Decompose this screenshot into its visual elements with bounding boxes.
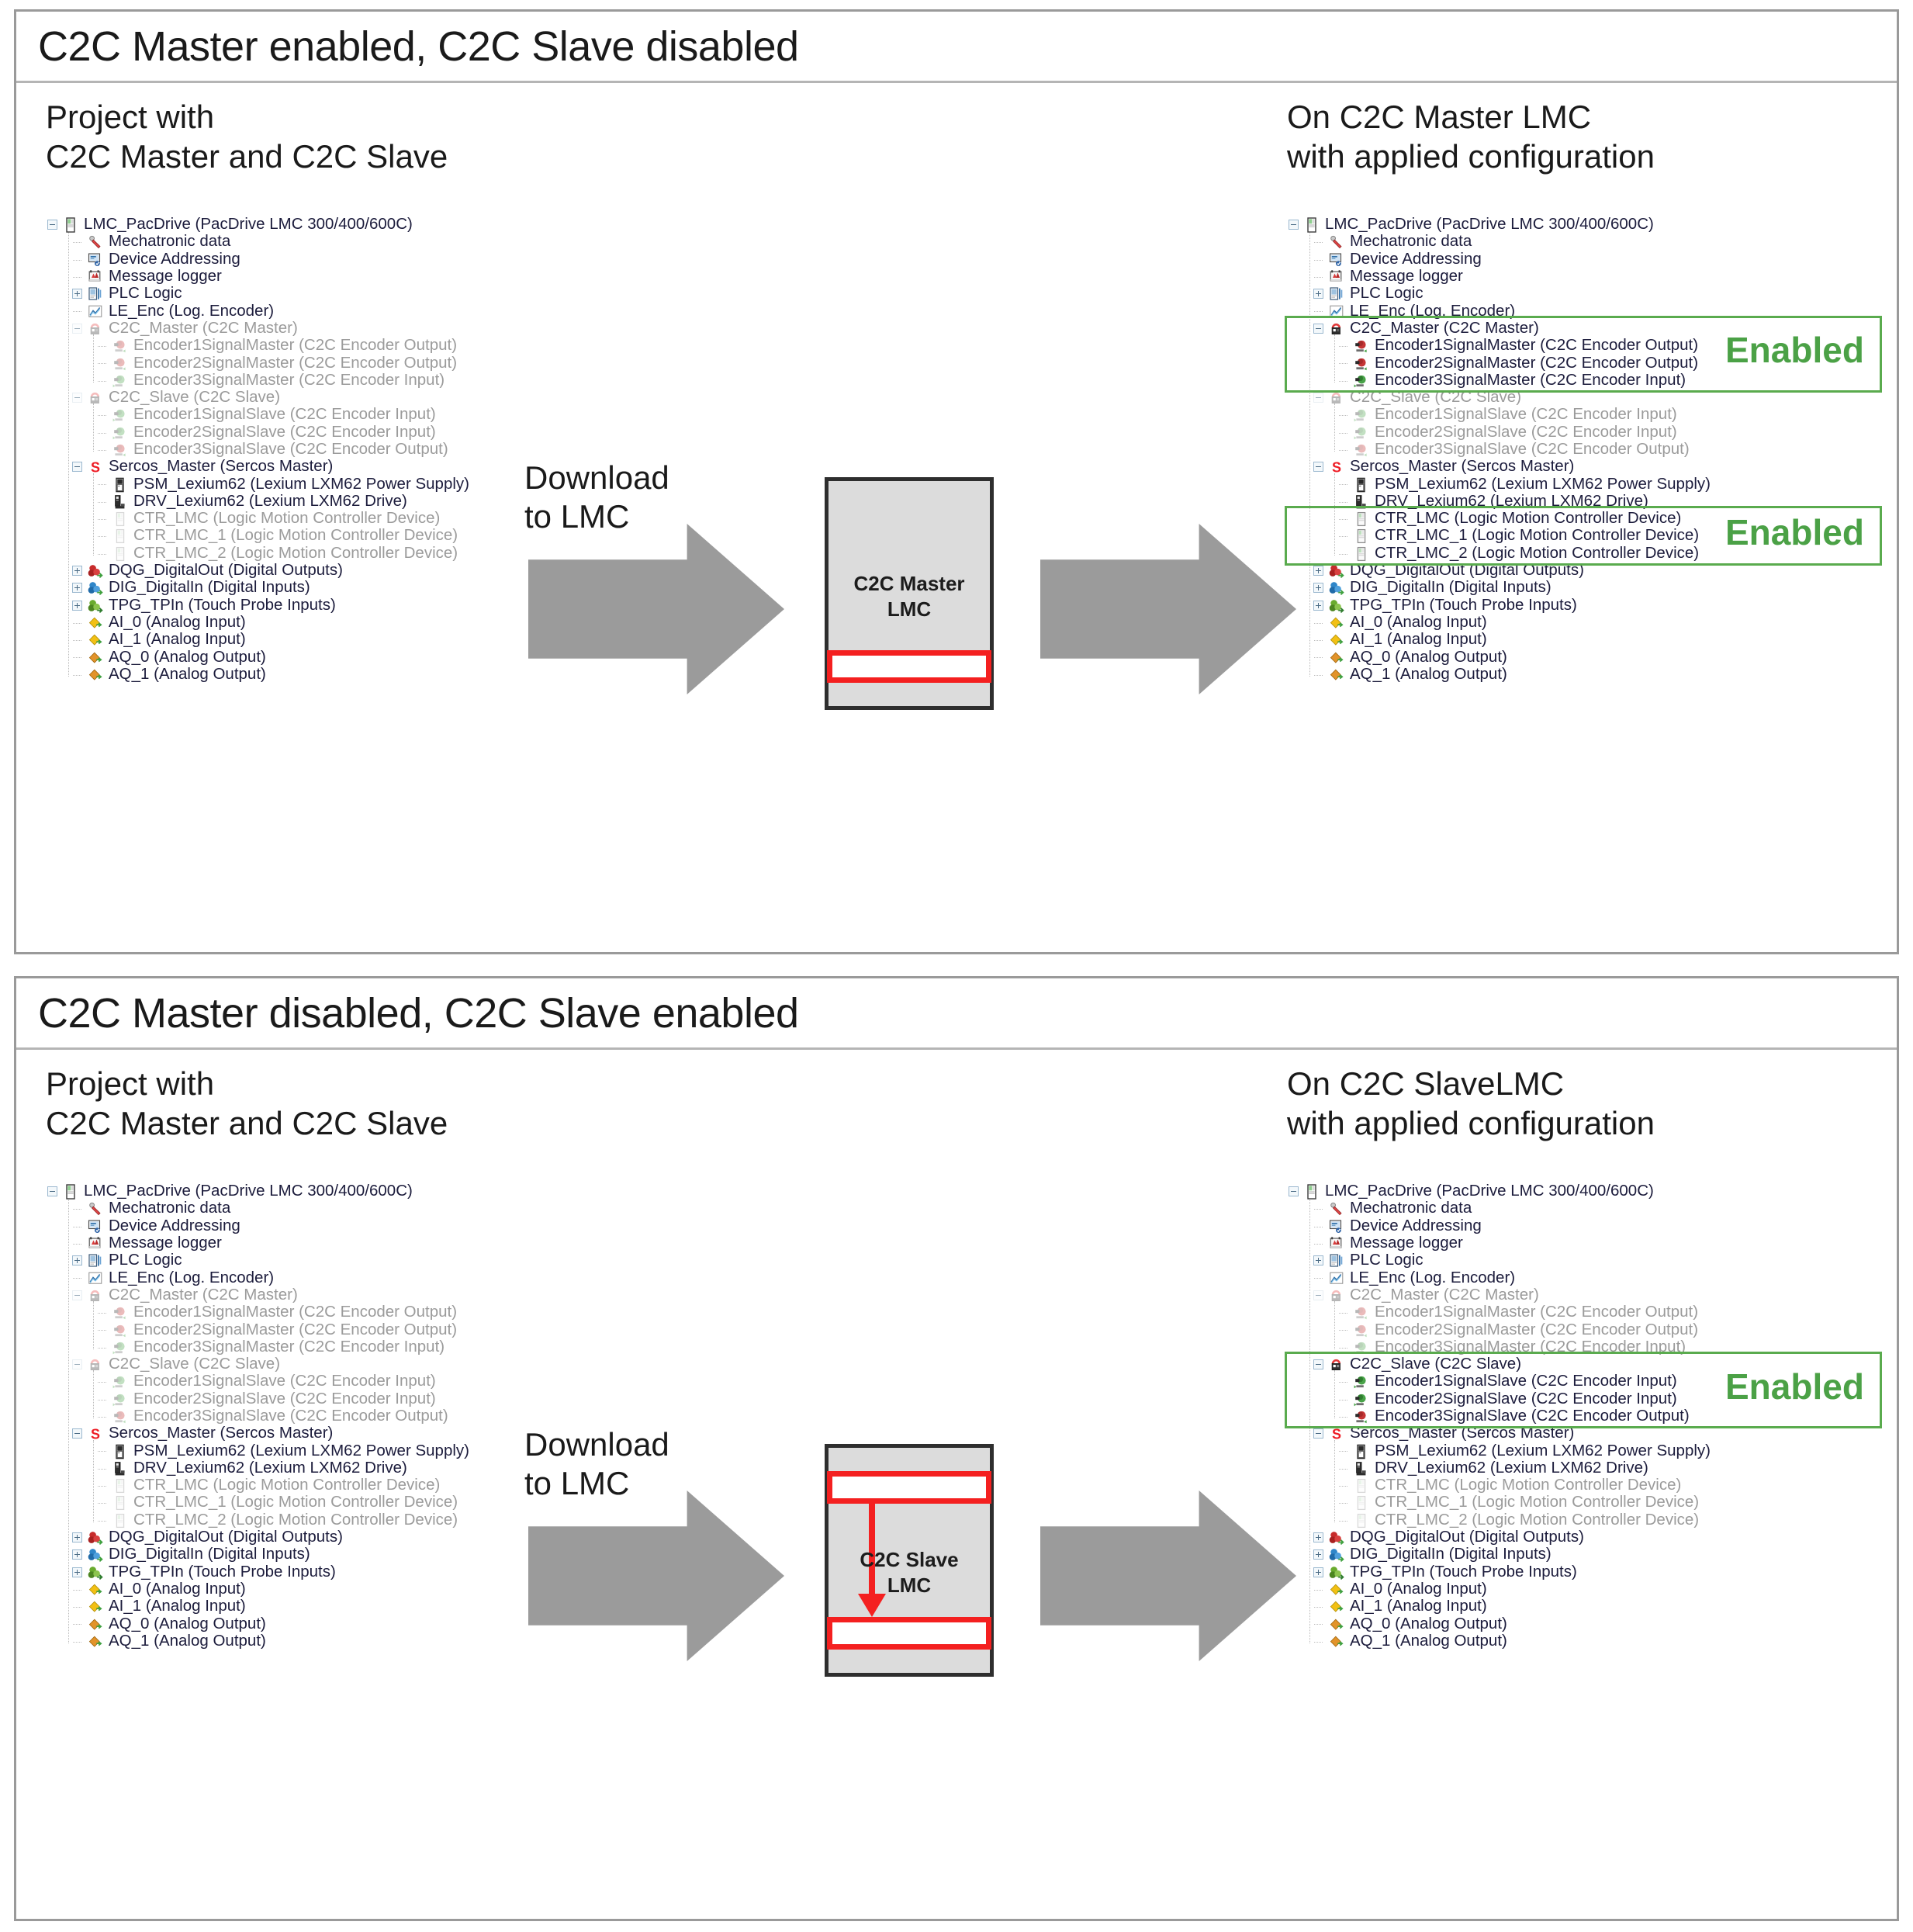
tree-collapse-icon[interactable] bbox=[47, 220, 57, 230]
c2c-slave-icon bbox=[1329, 1357, 1344, 1373]
tree-item-label: DIG_DigitalIn (Digital Inputs) bbox=[1350, 1546, 1552, 1563]
tree-expand-icon[interactable] bbox=[72, 566, 82, 576]
tree-item[interactable]: TPG_TPIn (Touch Probe Inputs) bbox=[1295, 597, 1711, 615]
tree-connector-stub bbox=[1339, 1469, 1347, 1470]
tree-item[interactable]: AI_0 (Analog Input) bbox=[1295, 615, 1711, 632]
tree-item[interactable]: SSercos_Master (Sercos Master) bbox=[1295, 1425, 1711, 1442]
tree-expand-icon[interactable] bbox=[72, 289, 82, 299]
tree-item[interactable]: DQG_DigitalOut (Digital Outputs) bbox=[1295, 1529, 1711, 1546]
controller-icon bbox=[63, 217, 78, 233]
message-logger-icon bbox=[88, 269, 103, 285]
ctr-lmc-icon bbox=[112, 528, 128, 544]
tree-item[interactable]: Mechatronic data bbox=[1295, 234, 1711, 251]
device-addressing-icon bbox=[1329, 1219, 1344, 1234]
tree-item-label: C2C_Master (C2C Master) bbox=[1350, 1286, 1539, 1304]
tree-item[interactable]: DIG_DigitalIn (Digital Inputs) bbox=[1295, 580, 1711, 597]
tree-item[interactable]: AQ_1 (Analog Output) bbox=[54, 1633, 469, 1650]
ctr-lmc-icon bbox=[112, 511, 128, 527]
tree-connector-stub bbox=[1339, 381, 1347, 382]
tree-connector-stub bbox=[98, 484, 106, 485]
tree-item[interactable]: DQG_DigitalOut (Digital Outputs) bbox=[54, 563, 469, 580]
tree-item[interactable]: TPG_TPIn (Touch Probe Inputs) bbox=[54, 1564, 469, 1581]
tree-connector-stub bbox=[1339, 363, 1347, 364]
tree-item[interactable]: Message logger bbox=[1295, 268, 1711, 286]
tree-item[interactable]: DIG_DigitalIn (Digital Inputs) bbox=[54, 1546, 469, 1563]
encoder-input-green-icon bbox=[1354, 1392, 1369, 1407]
tree-item[interactable]: Encoder3SignalSlave (C2C Encoder Output) bbox=[1295, 441, 1711, 459]
tree-connector-stub bbox=[1339, 1400, 1347, 1401]
drive-icon bbox=[112, 1461, 128, 1477]
tree-collapse-icon[interactable] bbox=[72, 462, 82, 472]
tree-item-label: LE_Enc (Log. Encoder) bbox=[109, 1269, 274, 1286]
tree-item-label: Mechatronic data bbox=[109, 1200, 230, 1217]
ctr-lmc-icon bbox=[1354, 511, 1369, 527]
tree-item-label: DQG_DigitalOut (Digital Outputs) bbox=[1350, 1529, 1584, 1546]
tree-connector-stub bbox=[98, 1330, 106, 1331]
tree-connector-stub bbox=[1339, 484, 1347, 485]
tree-connector-stub bbox=[98, 1486, 106, 1487]
tree-connector-stub bbox=[73, 242, 81, 243]
tree-item[interactable]: C2C_Master (C2C Master) bbox=[54, 320, 469, 338]
analog-input-icon bbox=[1329, 1599, 1344, 1615]
tree-item[interactable]: C2C_Master (C2C Master) bbox=[1295, 320, 1711, 338]
panel-title: C2C Master enabled, C2C Slave disabled bbox=[38, 23, 799, 71]
mechatronic-icon bbox=[88, 234, 103, 250]
panel-body: Project withC2C Master and C2C SlaveOn C… bbox=[16, 1050, 1897, 1916]
tree-item-label: DRV_Lexium62 (Lexium LXM62 Drive) bbox=[133, 1459, 407, 1477]
tree-item[interactable]: LE_Enc (Log. Encoder) bbox=[54, 1269, 469, 1286]
disabled-slot-marker bbox=[827, 650, 991, 683]
tree-item-label: Encoder1SignalSlave (C2C Encoder Input) bbox=[1375, 406, 1677, 423]
applied-device-tree: LMC_PacDrive (PacDrive LMC 300/400/600C)… bbox=[1295, 1183, 1711, 1650]
tree-collapse-icon[interactable] bbox=[1313, 324, 1323, 334]
tree-item-label: LMC_PacDrive (PacDrive LMC 300/400/600C) bbox=[1325, 1182, 1654, 1200]
tree-item[interactable]: LMC_PacDrive (PacDrive LMC 300/400/600C) bbox=[54, 1183, 469, 1200]
heading-line: On C2C Master LMC bbox=[1287, 97, 1655, 137]
encoder-input-green-icon bbox=[1354, 373, 1369, 389]
tree-item[interactable]: LE_Enc (Log. Encoder) bbox=[1295, 1269, 1711, 1286]
tree-item[interactable]: C2C_Slave (C2C Slave) bbox=[1295, 390, 1711, 407]
tree-item[interactable]: Device Addressing bbox=[1295, 251, 1711, 268]
tree-collapse-icon[interactable] bbox=[72, 324, 82, 334]
svg-text:S: S bbox=[91, 460, 100, 476]
tree-item[interactable]: PLC Logic bbox=[1295, 1252, 1711, 1269]
tree-item[interactable]: Mechatronic data bbox=[54, 234, 469, 251]
tree-item[interactable]: Mechatronic data bbox=[1295, 1200, 1711, 1217]
tree-item-label: CTR_LMC_2 (Logic Motion Controller Devic… bbox=[1375, 1511, 1699, 1529]
tree-item[interactable]: DRV_Lexium62 (Lexium LXM62 Drive) bbox=[54, 1460, 469, 1477]
tree-collapse-icon[interactable] bbox=[72, 1428, 82, 1439]
tree-item[interactable]: C2C_Master (C2C Master) bbox=[54, 1287, 469, 1304]
tree-item-label: Encoder3SignalSlave (C2C Encoder Output) bbox=[1375, 441, 1690, 458]
tree-item[interactable]: CTR_LMC_1 (Logic Motion Controller Devic… bbox=[1295, 528, 1711, 545]
tree-item[interactable]: LE_Enc (Log. Encoder) bbox=[54, 303, 469, 320]
tree-item-label: CTR_LMC (Logic Motion Controller Device) bbox=[133, 1477, 440, 1494]
tree-connector-stub bbox=[73, 1278, 81, 1279]
tree-expand-icon[interactable] bbox=[1313, 583, 1323, 593]
controller-icon bbox=[1304, 1184, 1320, 1200]
digital-out-icon bbox=[1329, 563, 1344, 579]
tree-connector-stub bbox=[1339, 554, 1347, 555]
tree-item[interactable]: DRV_Lexium62 (Lexium LXM62 Drive) bbox=[1295, 1460, 1711, 1477]
tree-item[interactable]: Device Addressing bbox=[1295, 1218, 1711, 1235]
tree-item[interactable]: Message logger bbox=[54, 268, 469, 286]
tree-item[interactable]: AI_0 (Analog Input) bbox=[54, 615, 469, 632]
tree-item-label: LMC_PacDrive (PacDrive LMC 300/400/600C) bbox=[1325, 216, 1654, 233]
mechatronic-icon bbox=[1329, 234, 1344, 250]
tree-item[interactable]: Encoder1SignalMaster (C2C Encoder Output… bbox=[1295, 1304, 1711, 1321]
tree-connector-stub bbox=[1339, 433, 1347, 434]
tree-item-label: AI_1 (Analog Input) bbox=[109, 631, 246, 648]
tree-connector-stub bbox=[1314, 1227, 1323, 1227]
tree-item[interactable]: SSercos_Master (Sercos Master) bbox=[1295, 459, 1711, 476]
tree-item[interactable]: AQ_0 (Analog Output) bbox=[1295, 1615, 1711, 1633]
drive-icon bbox=[1354, 1461, 1369, 1477]
download-arrow-right bbox=[1040, 1491, 1296, 1665]
tree-item[interactable]: CTR_LMC_2 (Logic Motion Controller Devic… bbox=[1295, 1512, 1711, 1529]
tree-item[interactable]: C2C_Master (C2C Master) bbox=[1295, 1287, 1711, 1304]
tree-connector-stub bbox=[1314, 1244, 1323, 1245]
tree-item[interactable]: AQ_1 (Analog Output) bbox=[54, 667, 469, 684]
tree-item[interactable]: Encoder2SignalMaster (C2C Encoder Output… bbox=[1295, 355, 1711, 372]
tree-item[interactable]: LMC_PacDrive (PacDrive LMC 300/400/600C) bbox=[1295, 216, 1711, 234]
tree-connector-stub bbox=[98, 1382, 106, 1383]
analog-output-icon bbox=[88, 1634, 103, 1650]
tree-item-label: DQG_DigitalOut (Digital Outputs) bbox=[109, 562, 343, 579]
tree-collapse-icon[interactable] bbox=[1313, 1428, 1323, 1439]
tree-item-label: AQ_1 (Analog Output) bbox=[109, 1633, 266, 1650]
tree-item-label: DRV_Lexium62 (Lexium LXM62 Drive) bbox=[1375, 493, 1648, 510]
tree-connector-stub bbox=[98, 1400, 106, 1401]
tree-item[interactable]: Encoder1SignalMaster (C2C Encoder Output… bbox=[54, 1304, 469, 1321]
tree-item[interactable]: DRV_Lexium62 (Lexium LXM62 Drive) bbox=[1295, 493, 1711, 511]
ctr-lmc-icon bbox=[1354, 1495, 1369, 1511]
tree-connector-stub bbox=[98, 381, 106, 382]
tree-item[interactable]: CTR_LMC_2 (Logic Motion Controller Devic… bbox=[54, 1512, 469, 1529]
tree-item[interactable]: Encoder3SignalSlave (C2C Encoder Output) bbox=[54, 441, 469, 459]
tree-item[interactable]: AQ_0 (Analog Output) bbox=[1295, 649, 1711, 666]
tree-expand-icon[interactable] bbox=[72, 1567, 82, 1577]
tree-item[interactable]: TPG_TPIn (Touch Probe Inputs) bbox=[54, 597, 469, 615]
status-badge-enabled: Enabled bbox=[1725, 329, 1864, 371]
mechatronic-icon bbox=[88, 1201, 103, 1217]
tree-item[interactable]: AI_1 (Analog Input) bbox=[54, 632, 469, 649]
tree-item[interactable]: Message logger bbox=[1295, 1235, 1711, 1252]
sercos-s-icon: S bbox=[88, 459, 103, 475]
tree-connector-stub bbox=[1314, 1209, 1323, 1210]
tree-connector-stub bbox=[98, 450, 106, 451]
panel-title-bar: C2C Master enabled, C2C Slave disabled bbox=[16, 12, 1897, 83]
tree-collapse-icon[interactable] bbox=[1313, 1290, 1323, 1300]
tree-collapse-icon[interactable] bbox=[1289, 1186, 1299, 1196]
tree-item[interactable]: AQ_1 (Analog Output) bbox=[1295, 667, 1711, 684]
tree-connector-stub bbox=[98, 415, 106, 416]
tree-item-label: Encoder1SignalMaster (C2C Encoder Output… bbox=[133, 1304, 457, 1321]
encoder-output-red-icon bbox=[112, 442, 128, 458]
tree-item[interactable]: Encoder3SignalSlave (C2C Encoder Output) bbox=[54, 1408, 469, 1425]
encoder-output-red-icon bbox=[1354, 442, 1369, 458]
tree-item-label: Message logger bbox=[109, 1234, 222, 1252]
tree-item-label: Encoder3SignalMaster (C2C Encoder Input) bbox=[133, 372, 445, 389]
tree-expand-icon[interactable] bbox=[72, 1255, 82, 1265]
tree-item[interactable]: PLC Logic bbox=[54, 286, 469, 303]
tree-item[interactable]: PLC Logic bbox=[54, 1252, 469, 1269]
tree-item-label: TPG_TPIn (Touch Probe Inputs) bbox=[109, 597, 336, 614]
tree-item[interactable]: Encoder3SignalMaster (C2C Encoder Input) bbox=[54, 1339, 469, 1356]
tree-item[interactable]: LMC_PacDrive (PacDrive LMC 300/400/600C) bbox=[1295, 1183, 1711, 1200]
tree-connector-stub bbox=[73, 311, 81, 312]
tree-item[interactable]: Encoder3SignalMaster (C2C Encoder Input) bbox=[1295, 372, 1711, 390]
encoder-output-red-icon bbox=[1354, 1305, 1369, 1321]
analog-input-icon bbox=[88, 1582, 103, 1598]
analog-input-icon bbox=[1329, 632, 1344, 648]
tree-collapse-icon[interactable] bbox=[72, 393, 82, 403]
tree-connector-stub bbox=[98, 363, 106, 364]
tree-item-label: Encoder2SignalSlave (C2C Encoder Input) bbox=[1375, 424, 1677, 441]
tree-item[interactable]: C2C_Slave (C2C Slave) bbox=[54, 1356, 469, 1373]
tree-item[interactable]: Encoder2SignalSlave (C2C Encoder Input) bbox=[54, 1391, 469, 1408]
tree-expand-icon[interactable] bbox=[1313, 1567, 1323, 1577]
ctr-lmc-icon bbox=[1354, 528, 1369, 544]
sercos-s-icon: S bbox=[1329, 1426, 1344, 1442]
tree-item[interactable]: PLC Logic bbox=[1295, 286, 1711, 303]
tree-item-label: C2C_Slave (C2C Slave) bbox=[109, 389, 280, 406]
tree-item[interactable]: CTR_LMC_2 (Logic Motion Controller Devic… bbox=[54, 545, 469, 563]
tree-item-label: Encoder2SignalMaster (C2C Encoder Output… bbox=[133, 1321, 457, 1338]
tree-expand-icon[interactable] bbox=[1313, 289, 1323, 299]
encoder-input-green-icon bbox=[1354, 1340, 1369, 1356]
tree-item[interactable]: LMC_PacDrive (PacDrive LMC 300/400/600C) bbox=[54, 216, 469, 234]
tree-connector-stub bbox=[1339, 450, 1347, 451]
tree-item-label: Encoder2SignalMaster (C2C Encoder Output… bbox=[1375, 1321, 1698, 1338]
encoder-input-green-icon bbox=[1354, 1374, 1369, 1390]
tree-expand-icon[interactable] bbox=[1313, 1532, 1323, 1542]
tree-item[interactable]: Encoder2SignalSlave (C2C Encoder Input) bbox=[1295, 424, 1711, 441]
tree-item[interactable]: AI_1 (Analog Input) bbox=[54, 1598, 469, 1615]
tree-collapse-icon[interactable] bbox=[1313, 462, 1323, 472]
tree-item[interactable]: Encoder3SignalMaster (C2C Encoder Input) bbox=[1295, 1339, 1711, 1356]
tree-item[interactable]: AQ_1 (Analog Output) bbox=[1295, 1633, 1711, 1650]
tree-collapse-icon[interactable] bbox=[1313, 1359, 1323, 1369]
tree-item-label: AI_1 (Analog Input) bbox=[109, 1598, 246, 1615]
tree-collapse-icon[interactable] bbox=[1313, 393, 1323, 403]
tree-item-label: PLC Logic bbox=[1350, 1252, 1424, 1269]
tree-item-label: CTR_LMC_1 (Logic Motion Controller Devic… bbox=[1375, 527, 1699, 544]
touch-probe-icon bbox=[1329, 1565, 1344, 1581]
tree-item-label: DIG_DigitalIn (Digital Inputs) bbox=[109, 1546, 310, 1563]
tree-item[interactable]: Device Addressing bbox=[54, 251, 469, 268]
tree-connector-stub bbox=[1314, 1590, 1323, 1591]
tree-item[interactable]: Encoder1SignalSlave (C2C Encoder Input) bbox=[54, 407, 469, 424]
tree-item[interactable]: DIG_DigitalIn (Digital Inputs) bbox=[54, 580, 469, 597]
digital-out-icon bbox=[88, 1530, 103, 1546]
analog-input-icon bbox=[1329, 1582, 1344, 1598]
tree-connector-stub bbox=[1314, 1642, 1323, 1643]
tree-item-label: AQ_1 (Analog Output) bbox=[1350, 666, 1507, 683]
tree-item[interactable]: CTR_LMC (Logic Motion Controller Device) bbox=[1295, 1477, 1711, 1494]
analog-output-icon bbox=[1329, 667, 1344, 683]
tree-item-label: Sercos_Master (Sercos Master) bbox=[109, 458, 333, 475]
tree-item[interactable]: Encoder2SignalMaster (C2C Encoder Output… bbox=[54, 355, 469, 372]
tree-item-label: Mechatronic data bbox=[1350, 1200, 1472, 1217]
tree-connector-stub bbox=[1339, 536, 1347, 537]
tree-item[interactable]: CTR_LMC_1 (Logic Motion Controller Devic… bbox=[1295, 1494, 1711, 1511]
tree-item-label: Encoder2SignalSlave (C2C Encoder Input) bbox=[133, 424, 436, 441]
svg-text:S: S bbox=[1332, 1427, 1341, 1442]
tree-item[interactable]: DQG_DigitalOut (Digital Outputs) bbox=[1295, 563, 1711, 580]
tree-item-label: Encoder1SignalSlave (C2C Encoder Input) bbox=[133, 406, 436, 423]
tree-connector-stub bbox=[73, 1227, 81, 1227]
tree-item-label: Device Addressing bbox=[1350, 251, 1482, 268]
lmc-device-caption: C2C SlaveLMC bbox=[829, 1547, 990, 1599]
tree-connector-stub bbox=[1314, 1624, 1323, 1625]
tree-item[interactable]: Message logger bbox=[54, 1235, 469, 1252]
digital-in-icon bbox=[1329, 580, 1344, 596]
touch-probe-icon bbox=[88, 598, 103, 614]
tree-item[interactable]: LE_Enc (Log. Encoder) bbox=[1295, 303, 1711, 320]
tree-item[interactable]: CTR_LMC_1 (Logic Motion Controller Devic… bbox=[54, 528, 469, 545]
sercos-s-icon: S bbox=[1329, 459, 1344, 475]
tree-item-label: AQ_0 (Analog Output) bbox=[1350, 1615, 1507, 1633]
tree-item[interactable]: TPG_TPIn (Touch Probe Inputs) bbox=[1295, 1564, 1711, 1581]
tree-item-label: Encoder3SignalSlave (C2C Encoder Output) bbox=[133, 1407, 448, 1425]
heading-line: Project with bbox=[46, 1064, 448, 1103]
digital-out-icon bbox=[88, 563, 103, 579]
device-addressing-icon bbox=[1329, 252, 1344, 268]
plc-logic-icon bbox=[88, 286, 103, 302]
tree-item[interactable]: Encoder1SignalSlave (C2C Encoder Input) bbox=[1295, 407, 1711, 424]
tree-item[interactable]: C2C_Slave (C2C Slave) bbox=[54, 390, 469, 407]
tree-item[interactable]: DIG_DigitalIn (Digital Inputs) bbox=[1295, 1546, 1711, 1563]
tree-connector-stub bbox=[1314, 311, 1323, 312]
tree-item-label: AQ_0 (Analog Output) bbox=[109, 1615, 266, 1633]
tree-item[interactable]: Encoder1SignalSlave (C2C Encoder Input) bbox=[54, 1373, 469, 1390]
tree-item[interactable]: CTR_LMC (Logic Motion Controller Device) bbox=[54, 511, 469, 528]
tree-item-label: CTR_LMC_1 (Logic Motion Controller Devic… bbox=[133, 1494, 458, 1511]
tree-item-label: Device Addressing bbox=[1350, 1217, 1482, 1234]
tree-connector-stub bbox=[1339, 519, 1347, 520]
tree-item[interactable]: CTR_LMC (Logic Motion Controller Device) bbox=[54, 1477, 469, 1494]
tree-collapse-icon[interactable] bbox=[72, 1359, 82, 1369]
encoder-output-red-icon bbox=[112, 1305, 128, 1321]
tree-item-label: PLC Logic bbox=[1350, 285, 1424, 302]
ctr-lmc-icon bbox=[112, 1478, 128, 1494]
analog-input-icon bbox=[88, 1599, 103, 1615]
encoder-output-red-icon bbox=[1354, 1323, 1369, 1338]
tree-item[interactable]: Encoder3SignalMaster (C2C Encoder Input) bbox=[54, 372, 469, 390]
tree-item[interactable]: DRV_Lexium62 (Lexium LXM62 Drive) bbox=[54, 493, 469, 511]
encoder-input-green-icon bbox=[112, 1340, 128, 1356]
tree-item[interactable]: PSM_Lexium62 (Lexium LXM62 Power Supply) bbox=[54, 1442, 469, 1459]
tree-expand-icon[interactable] bbox=[72, 1532, 82, 1542]
power-supply-icon bbox=[1354, 477, 1369, 493]
tree-item[interactable]: AI_0 (Analog Input) bbox=[54, 1581, 469, 1598]
tree-item[interactable]: AQ_0 (Analog Output) bbox=[54, 1615, 469, 1633]
controller-icon bbox=[63, 1184, 78, 1200]
tree-item-label: TPG_TPIn (Touch Probe Inputs) bbox=[1350, 597, 1577, 614]
tree-item[interactable]: AI_1 (Analog Input) bbox=[1295, 1598, 1711, 1615]
c2c-master-icon bbox=[1329, 321, 1344, 337]
tree-item[interactable]: PSM_Lexium62 (Lexium LXM62 Power Supply) bbox=[1295, 1442, 1711, 1459]
tree-item-label: PSM_Lexium62 (Lexium LXM62 Power Supply) bbox=[133, 476, 469, 493]
tree-expand-icon[interactable] bbox=[72, 1549, 82, 1560]
project-device-tree: LMC_PacDrive (PacDrive LMC 300/400/600C)… bbox=[54, 216, 469, 684]
encoder-graph-icon bbox=[1329, 304, 1344, 320]
tree-item-label: TPG_TPIn (Touch Probe Inputs) bbox=[109, 1563, 336, 1581]
tree-item[interactable]: Encoder2SignalSlave (C2C Encoder Input) bbox=[1295, 1391, 1711, 1408]
tree-collapse-icon[interactable] bbox=[72, 1290, 82, 1300]
tree-connector-stub bbox=[73, 675, 81, 676]
tree-item[interactable]: AI_1 (Analog Input) bbox=[1295, 632, 1711, 649]
analog-output-icon bbox=[1329, 650, 1344, 666]
tree-item[interactable]: DQG_DigitalOut (Digital Outputs) bbox=[54, 1529, 469, 1546]
tree-connector-stub bbox=[73, 1642, 81, 1643]
right-column-heading: On C2C SlaveLMCwith applied configuratio… bbox=[1287, 1064, 1655, 1143]
tree-connector-stub bbox=[73, 1244, 81, 1245]
tree-item[interactable]: Encoder3SignalSlave (C2C Encoder Output) bbox=[1295, 1408, 1711, 1425]
tree-connector-stub bbox=[98, 1451, 106, 1452]
tree-item-label: AI_1 (Analog Input) bbox=[1350, 1598, 1487, 1615]
tree-item[interactable]: Encoder1SignalSlave (C2C Encoder Input) bbox=[1295, 1373, 1711, 1390]
encoder-output-red-icon bbox=[1354, 338, 1369, 354]
plc-logic-icon bbox=[1329, 286, 1344, 302]
download-arrow-left bbox=[528, 524, 784, 698]
tree-item[interactable]: Encoder2SignalMaster (C2C Encoder Output… bbox=[1295, 1321, 1711, 1338]
tree-item[interactable]: PSM_Lexium62 (Lexium LXM62 Power Supply) bbox=[1295, 476, 1711, 493]
tree-expand-icon[interactable] bbox=[1313, 601, 1323, 611]
tree-expand-icon[interactable] bbox=[1313, 1549, 1323, 1560]
status-badge-enabled: Enabled bbox=[1725, 1366, 1864, 1407]
encoder-output-red-icon bbox=[112, 1409, 128, 1425]
tree-item[interactable]: C2C_Slave (C2C Slave) bbox=[1295, 1356, 1711, 1373]
tree-collapse-icon[interactable] bbox=[1289, 220, 1299, 230]
encoder-output-red-icon bbox=[112, 1323, 128, 1338]
tree-item[interactable]: AQ_0 (Analog Output) bbox=[54, 649, 469, 666]
tree-item[interactable]: Encoder2SignalSlave (C2C Encoder Input) bbox=[54, 424, 469, 441]
tree-item[interactable]: Encoder1SignalMaster (C2C Encoder Output… bbox=[54, 338, 469, 355]
tree-item-label: Encoder2SignalSlave (C2C Encoder Input) bbox=[133, 1390, 436, 1407]
tree-item-label: C2C_Master (C2C Master) bbox=[109, 320, 298, 337]
power-supply-icon bbox=[112, 477, 128, 493]
tree-expand-icon[interactable] bbox=[1313, 566, 1323, 576]
tree-item[interactable]: Device Addressing bbox=[54, 1218, 469, 1235]
tree-item[interactable]: Encoder2SignalMaster (C2C Encoder Output… bbox=[54, 1321, 469, 1338]
tree-item[interactable]: CTR_LMC (Logic Motion Controller Device) bbox=[1295, 511, 1711, 528]
tree-item-label: Encoder1SignalMaster (C2C Encoder Output… bbox=[1375, 337, 1698, 354]
tree-item-label: PSM_Lexium62 (Lexium LXM62 Power Supply) bbox=[133, 1442, 469, 1459]
tree-item[interactable]: AI_0 (Analog Input) bbox=[1295, 1581, 1711, 1598]
left-column-heading: Project withC2C Master and C2C Slave bbox=[46, 1064, 448, 1143]
device-addressing-icon bbox=[88, 1219, 103, 1234]
tree-item[interactable]: SSercos_Master (Sercos Master) bbox=[54, 1425, 469, 1442]
tree-expand-icon[interactable] bbox=[72, 583, 82, 593]
c2c-slave-icon bbox=[1329, 390, 1344, 406]
tree-expand-icon[interactable] bbox=[1313, 1255, 1323, 1265]
power-supply-icon bbox=[112, 1444, 128, 1459]
tree-collapse-icon[interactable] bbox=[47, 1186, 57, 1196]
tree-item-label: LMC_PacDrive (PacDrive LMC 300/400/600C) bbox=[84, 1182, 413, 1200]
tree-item[interactable]: SSercos_Master (Sercos Master) bbox=[54, 459, 469, 476]
download-arrow-right bbox=[1040, 524, 1296, 698]
tree-item[interactable]: Encoder1SignalMaster (C2C Encoder Output… bbox=[1295, 338, 1711, 355]
tree-item-label: Encoder2SignalMaster (C2C Encoder Output… bbox=[1375, 355, 1698, 372]
tree-item[interactable]: CTR_LMC_2 (Logic Motion Controller Devic… bbox=[1295, 545, 1711, 563]
tree-item[interactable]: Mechatronic data bbox=[54, 1200, 469, 1217]
tree-expand-icon[interactable] bbox=[72, 601, 82, 611]
tree-item[interactable]: CTR_LMC_1 (Logic Motion Controller Devic… bbox=[54, 1494, 469, 1511]
encoder-graph-icon bbox=[88, 304, 103, 320]
tree-item[interactable]: PSM_Lexium62 (Lexium LXM62 Power Supply) bbox=[54, 476, 469, 493]
